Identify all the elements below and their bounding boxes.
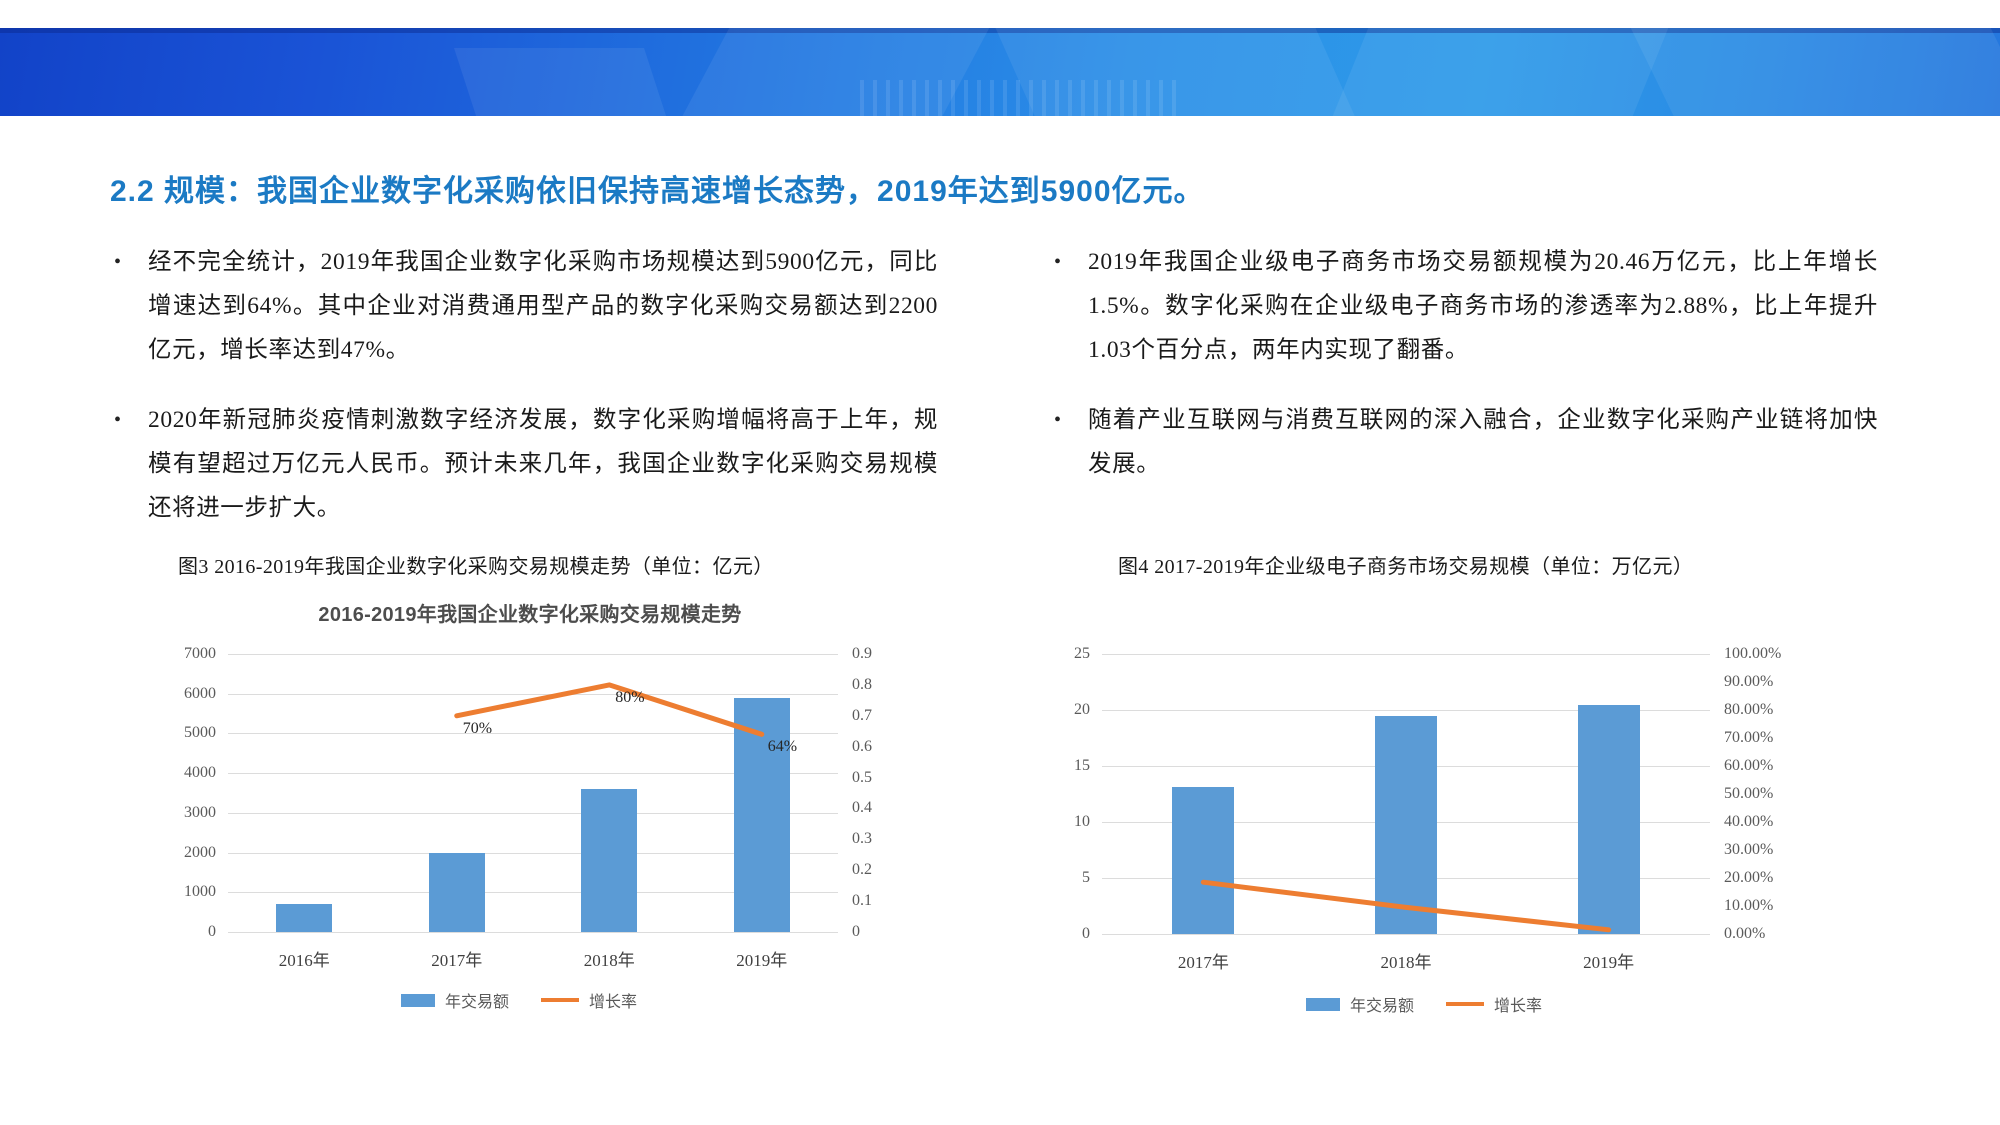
secondary-y-axis-tick-label: 0.7 xyxy=(852,707,872,725)
secondary-y-axis-tick-label: 0.1 xyxy=(852,892,872,910)
y-axis-tick-label: 0 xyxy=(208,923,216,941)
secondary-y-axis-tick-label: 0.2 xyxy=(852,861,872,879)
chart-legend: 年交易额增长率 xyxy=(1040,992,1830,1016)
legend-line-swatch-icon xyxy=(1446,1002,1484,1006)
list-item: • 2020年新冠肺炎疫情刺激数字经济发展，数字化采购增幅将高于上年，规模有望超… xyxy=(108,398,938,530)
secondary-y-axis-tick-label: 0.4 xyxy=(852,799,872,817)
chart-legend: 年交易额增长率 xyxy=(160,988,900,1012)
legend-bar-swatch-icon xyxy=(1306,998,1340,1011)
secondary-y-axis-tick-label: 80.00% xyxy=(1724,701,1773,719)
bullet-text: 2020年新冠肺炎疫情刺激数字经济发展，数字化采购增幅将高于上年，规模有望超过万… xyxy=(148,398,938,530)
banner-facet xyxy=(1300,28,1681,116)
secondary-y-axis-tick-label: 50.00% xyxy=(1724,785,1773,803)
banner-facet xyxy=(1606,28,2000,116)
x-axis-tick-label: 2017年 xyxy=(1102,948,1305,973)
secondary-y-axis-tick-label: 0.8 xyxy=(852,676,872,694)
header-banner xyxy=(0,28,2000,116)
x-axis-tick-label: 2018年 xyxy=(533,946,686,971)
secondary-y-axis-tick-label: 0 xyxy=(852,923,860,941)
page-title: 2.2 规模：我国企业数字化采购依旧保持高速增长态势，2019年达到5900亿元… xyxy=(110,166,1205,210)
secondary-y-axis-tick-label: 10.00% xyxy=(1724,897,1773,915)
x-axis-tick-label: 2017年 xyxy=(381,946,534,971)
growth-rate-line xyxy=(228,654,838,932)
legend-label: 增长率 xyxy=(1494,992,1542,1016)
growth-rate-line xyxy=(1102,654,1710,934)
left-text-column: • 经不完全统计，2019年我国企业数字化采购市场规模达到5900亿元，同比增速… xyxy=(108,240,938,556)
secondary-y-axis-tick-label: 70.00% xyxy=(1724,729,1773,747)
chart-title: 2016-2019年我国企业数字化采购交易规模走势 xyxy=(160,598,900,627)
legend-label: 年交易额 xyxy=(1350,992,1414,1016)
bullet-marker: • xyxy=(108,240,148,372)
bullet-marker: • xyxy=(108,398,148,530)
chart-b2b-ecommerce-scale: 2520151050100.00%90.00%80.00%70.00%60.00… xyxy=(1040,640,1830,1020)
legend-label: 年交易额 xyxy=(445,988,509,1012)
legend-bar-swatch-icon xyxy=(401,994,435,1007)
secondary-y-axis-tick-label: 0.9 xyxy=(852,645,872,663)
secondary-y-axis-tick-label: 90.00% xyxy=(1724,673,1773,691)
right-text-column: • 2019年我国企业级电子商务市场交易额规模为20.46万亿元，比上年增长1.… xyxy=(1048,240,1878,512)
y-axis-tick-label: 5 xyxy=(1082,869,1090,887)
y-axis-tick-label: 5000 xyxy=(184,724,216,742)
y-axis-tick-label: 25 xyxy=(1074,645,1090,663)
secondary-y-axis-tick-label: 60.00% xyxy=(1724,757,1773,775)
y-axis-tick-label: 2000 xyxy=(184,844,216,862)
x-axis-tick-label: 2019年 xyxy=(686,946,839,971)
secondary-y-axis-tick-label: 0.00% xyxy=(1724,925,1765,943)
list-item: • 经不完全统计，2019年我国企业数字化采购市场规模达到5900亿元，同比增速… xyxy=(108,240,938,372)
chart-digital-procurement-scale: 2016-2019年我国企业数字化采购交易规模走势700060005000400… xyxy=(160,598,900,1018)
banner-facet xyxy=(454,48,696,116)
y-axis-tick-label: 4000 xyxy=(184,764,216,782)
secondary-y-axis-tick-label: 40.00% xyxy=(1724,813,1773,831)
y-axis-tick-label: 0 xyxy=(1082,925,1090,943)
x-axis-tick-label: 2018年 xyxy=(1305,948,1508,973)
gridline xyxy=(228,932,838,933)
x-axis-tick-label: 2016年 xyxy=(228,946,381,971)
legend-label: 增长率 xyxy=(589,988,637,1012)
secondary-y-axis-tick-label: 0.6 xyxy=(852,738,872,756)
y-axis-tick-label: 1000 xyxy=(184,883,216,901)
bullet-text: 2019年我国企业级电子商务市场交易额规模为20.46万亿元，比上年增长1.5%… xyxy=(1088,240,1878,372)
secondary-y-axis-tick-label: 30.00% xyxy=(1724,841,1773,859)
y-axis-tick-label: 6000 xyxy=(184,685,216,703)
figure-caption-left: 图3 2016-2019年我国企业数字化采购交易规模走势（单位：亿元） xyxy=(178,550,774,579)
secondary-y-axis-tick-label: 100.00% xyxy=(1724,645,1781,663)
x-axis-tick-label: 2019年 xyxy=(1507,948,1710,973)
gridline xyxy=(1102,934,1710,935)
y-axis-tick-label: 15 xyxy=(1074,757,1090,775)
bullet-marker: • xyxy=(1048,398,1088,486)
banner-dot-pattern xyxy=(860,80,1180,116)
bullet-text: 随着产业互联网与消费互联网的深入融合，企业数字化采购产业链将加快发展。 xyxy=(1088,398,1878,486)
secondary-y-axis-tick-label: 20.00% xyxy=(1724,869,1773,887)
data-label: 80% xyxy=(615,689,644,707)
y-axis-tick-label: 20 xyxy=(1074,701,1090,719)
figure-caption-right: 图4 2017-2019年企业级电子商务市场交易规模（单位：万亿元） xyxy=(1118,550,1693,579)
list-item: • 2019年我国企业级电子商务市场交易额规模为20.46万亿元，比上年增长1.… xyxy=(1048,240,1878,372)
secondary-y-axis-tick-label: 0.3 xyxy=(852,830,872,848)
plot-area xyxy=(1102,654,1710,934)
data-label: 70% xyxy=(463,720,492,738)
y-axis-tick-label: 10 xyxy=(1074,813,1090,831)
y-axis-tick-label: 3000 xyxy=(184,804,216,822)
y-axis-tick-label: 7000 xyxy=(184,645,216,663)
data-label: 64% xyxy=(768,738,797,756)
bullet-text: 经不完全统计，2019年我国企业数字化采购市场规模达到5900亿元，同比增速达到… xyxy=(148,240,938,372)
plot-area xyxy=(228,654,838,932)
bullet-marker: • xyxy=(1048,240,1088,372)
secondary-y-axis-tick-label: 0.5 xyxy=(852,769,872,787)
list-item: • 随着产业互联网与消费互联网的深入融合，企业数字化采购产业链将加快发展。 xyxy=(1048,398,1878,486)
legend-line-swatch-icon xyxy=(541,998,579,1002)
